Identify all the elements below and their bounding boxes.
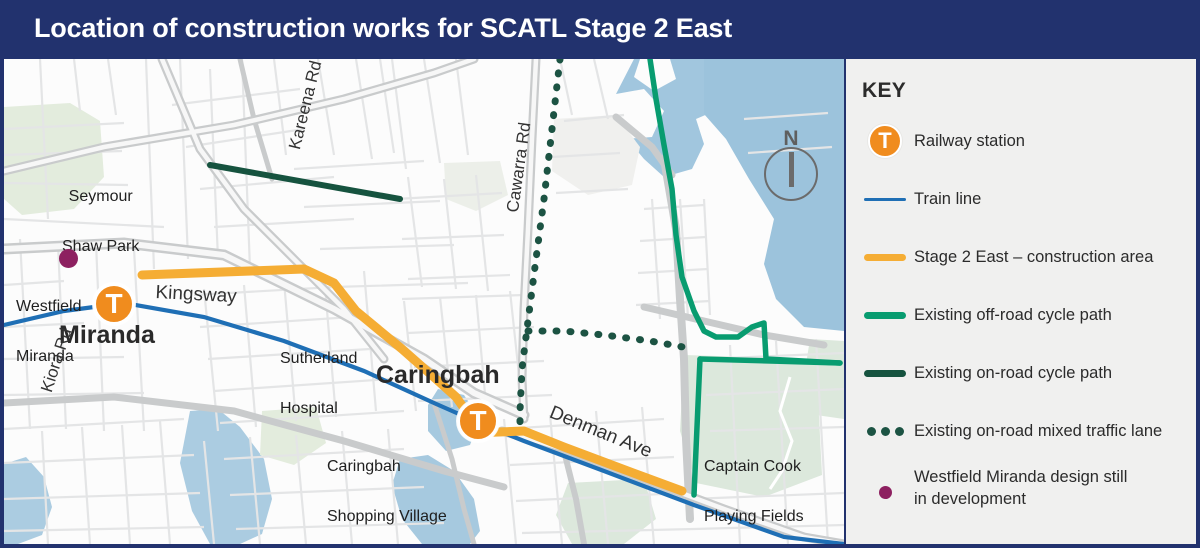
map-canvas[interactable]: Seymour Shaw Park Westfield Miranda Mira… — [4, 59, 844, 544]
legend-item-railway-station: T Railway station — [856, 121, 1196, 161]
legend-label-onroad-cycle-path: Existing on-road cycle path — [914, 353, 1112, 385]
station-marker-caringbah[interactable]: T — [457, 400, 499, 442]
onroad-cycle-path-icon — [864, 370, 906, 377]
dot-2 — [881, 427, 890, 436]
railway-station-icon: T — [868, 124, 902, 158]
map-infographic: Location of construction works for SCATL… — [0, 0, 1200, 548]
legend-symbol-onroad-cycle — [856, 353, 914, 393]
westfield-miranda-design-dot — [59, 249, 78, 268]
offroad-cycle-path-icon — [864, 312, 906, 319]
legend-item-train-line: Train line — [856, 179, 1196, 219]
legend-symbol-mixed-traffic — [856, 411, 914, 451]
mixed-traffic-lane-icon — [867, 427, 904, 436]
legend-symbol-station: T — [856, 121, 914, 161]
train-line-icon — [864, 198, 906, 201]
legend-label-offroad-cycle-path: Existing off-road cycle path — [914, 295, 1112, 327]
legend-item-onroad-cycle-path: Existing on-road cycle path — [856, 353, 1196, 393]
dot-1 — [867, 427, 876, 436]
legend-item-stage-2-east: Stage 2 East – construction area — [856, 237, 1196, 277]
legend-symbol-construction-area — [856, 237, 914, 277]
legend-label-mixed-traffic-lane: Existing on-road mixed traffic lane — [914, 411, 1162, 443]
legend-panel: KEY T Railway station Train line — [844, 59, 1196, 544]
legend-item-offroad-cycle-path: Existing off-road cycle path — [856, 295, 1196, 335]
construction-area-icon — [864, 254, 906, 261]
legend-symbol-train-line — [856, 179, 914, 219]
legend-label-railway-station: Railway station — [914, 121, 1025, 153]
westfield-design-dot-icon — [879, 486, 892, 499]
map-and-key-container: Seymour Shaw Park Westfield Miranda Mira… — [4, 59, 1196, 544]
station-marker-miranda[interactable]: T — [93, 283, 135, 325]
map-frame: Seymour Shaw Park Westfield Miranda Mira… — [0, 55, 1200, 548]
header-bar: Location of construction works for SCATL… — [0, 0, 1200, 55]
dot-3 — [895, 427, 904, 436]
compass-north-icon: N — [761, 127, 821, 207]
legend-item-mixed-traffic-lane: Existing on-road mixed traffic lane — [856, 411, 1196, 451]
legend-item-westfield-design: Westfield Miranda design still in develo… — [856, 465, 1196, 511]
page-title: Location of construction works for SCATL… — [34, 13, 732, 44]
compass-needle — [789, 152, 794, 187]
legend-label-stage-2-east: Stage 2 East – construction area — [914, 237, 1153, 269]
legend-symbol-offroad-cycle — [856, 295, 914, 335]
legend-label-train-line: Train line — [914, 179, 981, 211]
legend-symbol-westfield-dot — [856, 465, 914, 505]
legend-label-westfield-design: Westfield Miranda design still in develo… — [914, 465, 1127, 511]
legend-title: KEY — [862, 79, 906, 103]
